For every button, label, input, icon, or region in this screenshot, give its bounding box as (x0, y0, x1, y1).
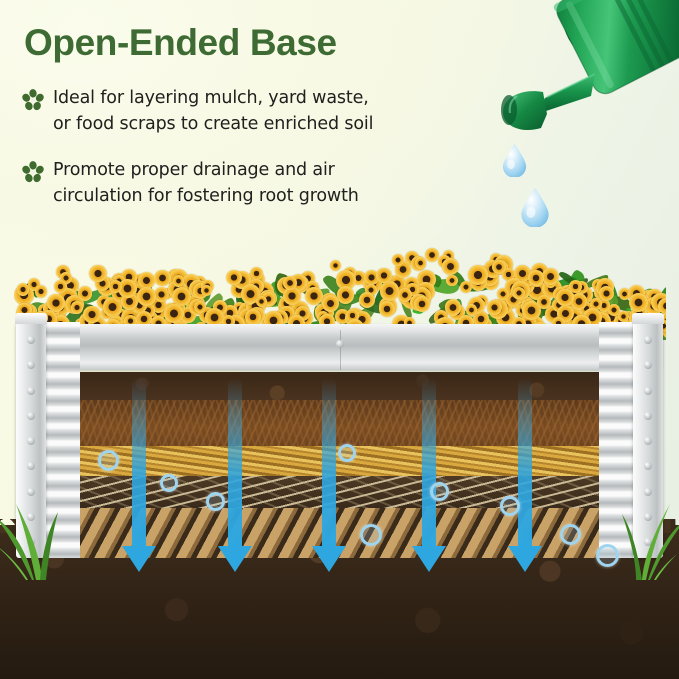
flower-head (71, 301, 83, 313)
water-bubble-icon (206, 492, 225, 511)
water-bubble-icon (360, 524, 382, 546)
flower-head (445, 299, 461, 315)
flower-head (425, 248, 439, 262)
water-drop-icon (519, 187, 551, 227)
flower-head (337, 286, 355, 304)
flower-head (629, 293, 648, 312)
water-drop-icon (501, 143, 528, 177)
flower-head (466, 304, 477, 315)
water-flow-arrow (412, 378, 446, 574)
feature-bullet-2-text: Promote proper drainage and air circulat… (53, 157, 359, 209)
water-flow-arrow (122, 378, 156, 574)
page-title: Open-Ended Base (24, 22, 337, 64)
flower-head (442, 258, 459, 275)
arrow-head (312, 546, 346, 572)
water-flow-arrow (312, 378, 346, 574)
rivet-icon (27, 361, 35, 369)
arrow-head (508, 546, 542, 572)
bed-top-rail (18, 324, 662, 370)
rivet-icon (644, 437, 652, 445)
flower-head (380, 281, 399, 300)
galvanized-raised-garden-bed (0, 228, 679, 583)
arrow-head (412, 546, 446, 572)
flower-head (305, 287, 323, 305)
water-bubble-icon (338, 444, 356, 462)
arrow-shaft (322, 378, 336, 548)
feature-bullet-1-text: Ideal for layering mulch, yard waste, or… (53, 85, 373, 137)
flower-head (528, 270, 544, 286)
flower-head (154, 287, 169, 302)
flower-head (137, 287, 156, 306)
flower-head (415, 257, 427, 269)
flower-head (542, 268, 559, 285)
rivet-icon (336, 340, 344, 348)
flower-head (173, 275, 184, 286)
flower-head (446, 275, 457, 286)
flower-head (414, 296, 431, 313)
water-flow-arrow (218, 378, 252, 574)
water-bubble-icon (500, 496, 520, 516)
rail-seam (340, 330, 341, 370)
rivet-icon (644, 412, 652, 420)
grass-tuft-right (616, 468, 679, 580)
flower-head (17, 283, 29, 295)
rivet-icon (644, 336, 652, 344)
flower-head (138, 272, 155, 289)
flower-head (537, 295, 551, 309)
clover-icon (22, 88, 44, 113)
flower-head (330, 260, 342, 272)
rivet-icon (644, 361, 652, 369)
rivet-icon (644, 387, 652, 395)
feature-bullet-1: Ideal for layering mulch, yard waste, or… (22, 85, 373, 137)
flower-head (283, 276, 297, 290)
water-bubble-icon (160, 474, 178, 492)
flower-head (376, 268, 391, 283)
flower-head (513, 287, 525, 299)
arrow-shaft (518, 378, 532, 548)
infographic-canvas: Open-Ended Base Ideal for layering mulch… (0, 0, 679, 679)
rivet-icon (27, 412, 35, 420)
flower-head (618, 311, 629, 322)
flower-head (226, 270, 241, 285)
water-flow-arrow (508, 378, 542, 574)
clover-icon (22, 160, 44, 185)
flower-head (322, 295, 339, 312)
arrow-head (122, 546, 156, 572)
grass-tuft-left (0, 470, 70, 580)
flower-head (89, 265, 106, 282)
post-cap (15, 313, 47, 324)
rivet-icon (27, 336, 35, 344)
post-cap (632, 313, 664, 324)
water-bubble-icon (430, 482, 449, 501)
flower-head (78, 286, 92, 300)
flower-head (556, 289, 574, 307)
flower-head (487, 300, 502, 315)
water-bubble-icon (98, 450, 119, 471)
arrow-shaft (132, 378, 146, 548)
arrow-shaft (422, 378, 436, 548)
flower-head (201, 285, 212, 296)
watering-can-icon (487, 0, 679, 166)
water-bubble-icon (560, 524, 581, 545)
arrow-head (218, 546, 252, 572)
flower-head (83, 306, 100, 323)
flower-head (245, 309, 261, 325)
rivet-icon (27, 387, 35, 395)
rivet-icon (27, 437, 35, 445)
feature-bullet-2: Promote proper drainage and air circulat… (22, 157, 359, 209)
flower-head (468, 265, 487, 284)
flower-head (35, 285, 48, 298)
flower-head (379, 301, 395, 317)
arrow-shaft (228, 378, 242, 548)
flower-head (47, 294, 65, 312)
